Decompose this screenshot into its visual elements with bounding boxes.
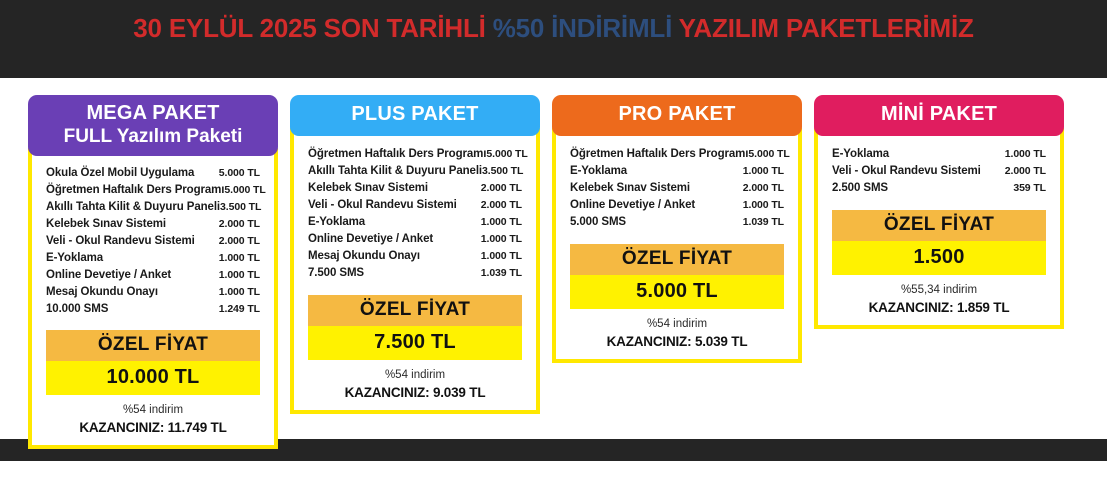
feature-label: Online Devetiye / Anket [308,233,433,245]
special-price-block: ÖZEL FİYAT1.500 [828,210,1050,275]
card-body-plus: Öğretmen Haftalık Ders Programı5.000 TLA… [290,128,540,414]
feature-price: 3.500 TL [482,165,523,177]
pricing-card-mega[interactable]: MEGA PAKETFULL Yazılım PaketiOkula Özel … [28,95,278,449]
feature-price: 5.000 TL [224,184,265,196]
feature-label: Online Devetiye / Anket [46,269,171,281]
feature-row: Online Devetiye / Anket1.000 TL [308,231,522,248]
promo-banner: 30 EYLÜL 2025 SON TARİHLİ %50 İNDİRİMLİ … [0,0,1107,78]
feature-label: E-Yoklama [46,252,103,264]
special-price-block: ÖZEL FİYAT5.000 TL [566,244,788,309]
pricing-card-mini[interactable]: MİNİ PAKETE-Yoklama1.000 TLVeli - Okul R… [814,95,1064,329]
feature-row: Öğretmen Haftalık Ders Programı5.000 TL [46,181,260,198]
savings-text: KAZANCINIZ: 1.859 TL [828,300,1050,315]
feature-row: E-Yoklama1.000 TL [832,146,1046,163]
title-highlight: %50 İNDİRİMLİ [493,13,672,43]
feature-row: Veli - Okul Randevu Sistemi2.000 TL [46,232,260,249]
feature-row: Akıllı Tahta Kilit & Duyuru Paneli3.500 … [46,198,260,215]
feature-price: 1.039 TL [743,216,784,228]
title-part-1: 30 EYLÜL 2025 SON TARİHLİ [133,13,492,43]
feature-price: 2.000 TL [219,218,260,230]
feature-price: 359 TL [1013,182,1046,194]
feature-price: 1.039 TL [481,267,522,279]
feature-label: Öğretmen Haftalık Ders Programı [570,148,748,160]
feature-price: 1.249 TL [219,303,260,315]
feature-price: 1.000 TL [743,199,784,211]
feature-price: 5.000 TL [748,148,789,160]
feature-label: 10.000 SMS [46,303,108,315]
card-body-mini: E-Yoklama1.000 TLVeli - Okul Randevu Sis… [814,128,1064,329]
card-header-mini: MİNİ PAKET [814,95,1064,136]
feature-row: Mesaj Okundu Onayı1.000 TL [46,283,260,300]
feature-price: 5.000 TL [219,167,260,179]
card-title-primary: PLUS PAKET [296,103,534,127]
feature-price: 1.000 TL [1005,148,1046,160]
feature-label: Kelebek Sınav Sistemi [308,182,428,194]
card-header-plus: PLUS PAKET [290,95,540,136]
feature-row: E-Yoklama1.000 TL [570,163,784,180]
pricing-card-list: MEGA PAKETFULL Yazılım PaketiOkula Özel … [28,95,1079,449]
feature-row: Okula Özel Mobil Uygulama5.000 TL [46,164,260,181]
page-title: 30 EYLÜL 2025 SON TARİHLİ %50 İNDİRİMLİ … [133,15,973,63]
feature-label: Akıllı Tahta Kilit & Duyuru Paneli [308,165,482,177]
feature-row: Mesaj Okundu Onayı1.000 TL [308,248,522,265]
feature-label: Okula Özel Mobil Uygulama [46,167,194,179]
feature-label: Öğretmen Haftalık Ders Programı [46,184,224,196]
feature-list: Öğretmen Haftalık Ders Programı5.000 TLA… [304,146,526,282]
discount-text: %54 indirim [566,318,788,330]
feature-row: Veli - Okul Randevu Sistemi2.000 TL [832,163,1046,180]
pricing-card-plus[interactable]: PLUS PAKETÖğretmen Haftalık Ders Program… [290,95,540,414]
feature-row: 2.500 SMS359 TL [832,180,1046,197]
discount-text: %55,34 indirim [828,284,1050,296]
feature-price: 2.000 TL [481,182,522,194]
feature-label: Online Devetiye / Anket [570,199,695,211]
feature-label: 7.500 SMS [308,267,364,279]
feature-row: Öğretmen Haftalık Ders Programı5.000 TL [308,146,522,163]
feature-row: Kelebek Sınav Sistemi2.000 TL [308,180,522,197]
feature-price: 1.000 TL [743,165,784,177]
feature-label: Akıllı Tahta Kilit & Duyuru Paneli [46,201,220,213]
feature-price: 2.000 TL [743,182,784,194]
card-title-primary: MİNİ PAKET [820,103,1058,127]
pricing-stage: MEGA PAKETFULL Yazılım PaketiOkula Özel … [0,78,1107,461]
feature-row: Online Devetiye / Anket1.000 TL [570,197,784,214]
feature-row: 7.500 SMS1.039 TL [308,265,522,282]
card-header-mega: MEGA PAKETFULL Yazılım Paketi [28,95,278,156]
feature-label: Veli - Okul Randevu Sistemi [308,199,457,211]
card-body-pro: Öğretmen Haftalık Ders Programı5.000 TLE… [552,128,802,363]
feature-price: 1.000 TL [481,233,522,245]
feature-row: Online Devetiye / Anket1.000 TL [46,266,260,283]
card-header-pro: PRO PAKET [552,95,802,136]
feature-list: E-Yoklama1.000 TLVeli - Okul Randevu Sis… [828,146,1050,197]
feature-row: Akıllı Tahta Kilit & Duyuru Paneli3.500 … [308,163,522,180]
special-price-value: 7.500 TL [308,326,522,360]
feature-row: E-Yoklama1.000 TL [46,249,260,266]
savings-text: KAZANCINIZ: 5.039 TL [566,334,788,349]
feature-price: 2.000 TL [481,199,522,211]
special-price-value: 10.000 TL [46,361,260,395]
savings-text: KAZANCINIZ: 11.749 TL [42,420,264,435]
pricing-card-pro[interactable]: PRO PAKETÖğretmen Haftalık Ders Programı… [552,95,802,363]
feature-row: Kelebek Sınav Sistemi2.000 TL [570,180,784,197]
feature-label: 2.500 SMS [832,182,888,194]
feature-price: 2.000 TL [1005,165,1046,177]
feature-price: 3.500 TL [220,201,261,213]
savings-text: KAZANCINIZ: 9.039 TL [304,385,526,400]
feature-list: Öğretmen Haftalık Ders Programı5.000 TLE… [566,146,788,231]
feature-label: Veli - Okul Randevu Sistemi [46,235,195,247]
feature-price: 2.000 TL [219,235,260,247]
feature-label: E-Yoklama [570,165,627,177]
discount-text: %54 indirim [42,404,264,416]
feature-label: Veli - Okul Randevu Sistemi [832,165,981,177]
feature-label: Mesaj Okundu Onayı [46,286,158,298]
feature-label: 5.000 SMS [570,216,626,228]
feature-row: 5.000 SMS1.039 TL [570,214,784,231]
feature-price: 1.000 TL [219,286,260,298]
feature-list: Okula Özel Mobil Uygulama5.000 TLÖğretme… [42,164,264,317]
feature-row: 10.000 SMS1.249 TL [46,300,260,317]
special-price-block: ÖZEL FİYAT7.500 TL [304,295,526,360]
feature-row: E-Yoklama1.000 TL [308,214,522,231]
feature-label: Kelebek Sınav Sistemi [46,218,166,230]
special-price-value: 5.000 TL [570,275,784,309]
feature-label: Kelebek Sınav Sistemi [570,182,690,194]
feature-label: Mesaj Okundu Onayı [308,250,420,262]
special-price-value: 1.500 [832,241,1046,275]
discount-text: %54 indirim [304,369,526,381]
feature-price: 1.000 TL [481,250,522,262]
feature-label: E-Yoklama [832,148,889,160]
feature-price: 1.000 TL [219,269,260,281]
special-price-label: ÖZEL FİYAT [832,210,1046,241]
card-body-mega: Okula Özel Mobil Uygulama5.000 TLÖğretme… [28,148,278,449]
special-price-label: ÖZEL FİYAT [308,295,522,326]
card-title-primary: MEGA PAKET [34,102,272,126]
feature-label: Öğretmen Haftalık Ders Programı [308,148,486,160]
feature-price: 5.000 TL [486,148,527,160]
feature-price: 1.000 TL [219,252,260,264]
feature-price: 1.000 TL [481,216,522,228]
card-title-secondary: FULL Yazılım Paketi [34,126,272,148]
feature-row: Öğretmen Haftalık Ders Programı5.000 TL [570,146,784,163]
title-part-2: YAZILIM PAKETLERİMİZ [672,13,974,43]
feature-row: Veli - Okul Randevu Sistemi2.000 TL [308,197,522,214]
special-price-label: ÖZEL FİYAT [46,330,260,361]
card-title-primary: PRO PAKET [558,103,796,127]
feature-label: E-Yoklama [308,216,365,228]
special-price-label: ÖZEL FİYAT [570,244,784,275]
special-price-block: ÖZEL FİYAT10.000 TL [42,330,264,395]
feature-row: Kelebek Sınav Sistemi2.000 TL [46,215,260,232]
